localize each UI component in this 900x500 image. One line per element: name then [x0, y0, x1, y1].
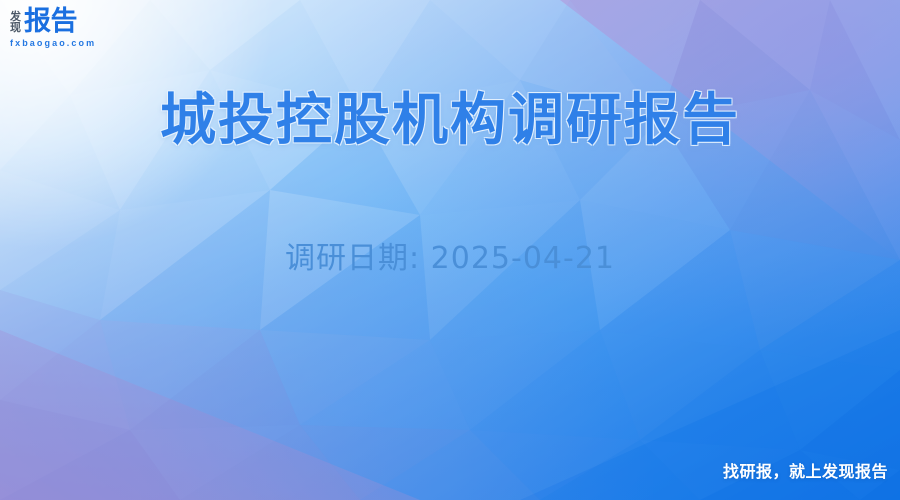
- brand-tagline: 找研报，就上发现报告: [723, 458, 888, 482]
- report-cover-slide: 发 现 报告 fxbaogao.com 城投控股机构调研报告 调研日期: 202…: [0, 0, 900, 500]
- brand-logo[interactable]: 发 现 报告 fxbaogao.com: [10, 8, 96, 48]
- logo-main-text: 报告: [24, 8, 77, 35]
- logo-stacked-characters: 发 现: [10, 10, 21, 33]
- logo-char-bottom: 现: [10, 22, 21, 33]
- survey-date-subtitle: 调研日期: 2025-04-21: [0, 233, 900, 277]
- logo-domain-text: fxbaogao.com: [10, 38, 96, 48]
- report-title: 城投控股机构调研报告: [0, 88, 900, 154]
- logo-wordmark: 发 现 报告: [10, 8, 77, 35]
